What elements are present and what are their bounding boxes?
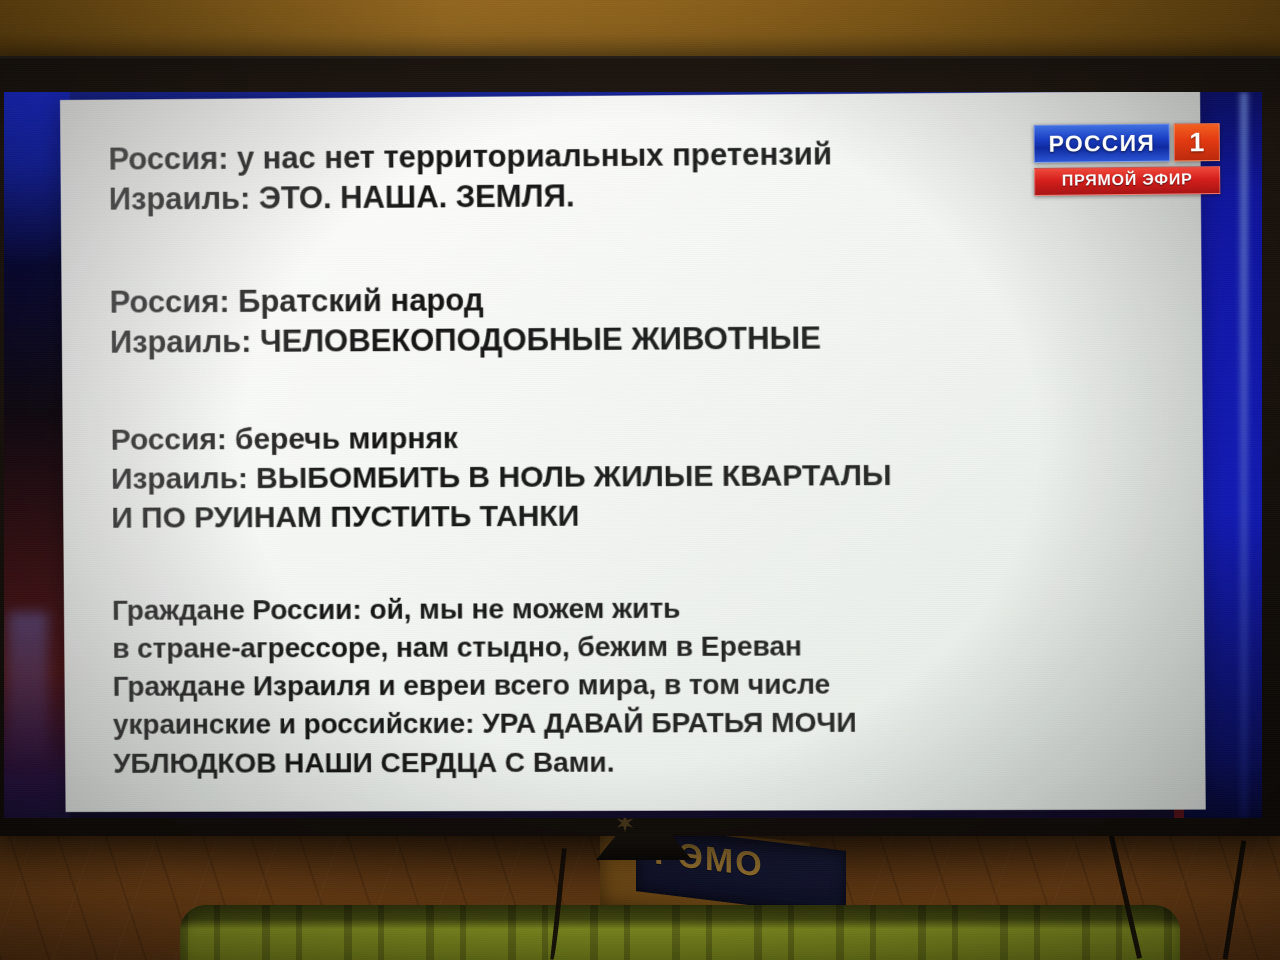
slide-line: Россия: Братский народ bbox=[109, 276, 1148, 323]
slide-line: Израиль: ЧЕЛОВЕКОПОДОБНЫЕ ЖИВОТНЫЕ bbox=[110, 316, 1149, 363]
slide-line: украинские и российские: УРА ДАВАЙ БРАТЬ… bbox=[113, 703, 1153, 744]
live-badge: ПРЯМОЙ ЭФИР bbox=[1034, 166, 1220, 196]
slide-line: Россия: беречь мирняк bbox=[111, 415, 1150, 460]
room-wall bbox=[0, 0, 1280, 64]
channel-number-badge: 1 bbox=[1174, 123, 1220, 161]
channel-logo: РОССИЯ 1 ПРЯМОЙ ЭФИР bbox=[1034, 123, 1221, 196]
slide-line: УБЛЮДКОВ НАШИ СЕРДЦА С Вами. bbox=[113, 742, 1153, 783]
text-block-3: Россия: беречь мирняк Израиль: ВЫБОМБИТЬ… bbox=[111, 415, 1151, 538]
tv-screen: Россия: у нас нет территориальных претен… bbox=[4, 92, 1262, 818]
text-block-4: Граждане России: ой, мы не можем жить в … bbox=[112, 588, 1153, 783]
channel-name-text: РОССИЯ bbox=[1048, 129, 1155, 157]
slide-line: И ПО РУИНАМ ПУСТИТЬ ТАНКИ bbox=[111, 494, 1150, 538]
text-slide-panel: Россия: у нас нет территориальных претен… bbox=[60, 92, 1206, 812]
photo-scene: РЭМО Россия: у нас нет территориальных п… bbox=[0, 0, 1280, 960]
slide-line: Граждане России: ой, мы не можем жить bbox=[112, 588, 1152, 630]
channel-logo-row: РОССИЯ 1 bbox=[1034, 123, 1220, 163]
slide-content: Россия: у нас нет территориальных претен… bbox=[60, 92, 1206, 812]
channel-number-text: 1 bbox=[1189, 127, 1204, 158]
slide-line: Израиль: ВЫБОМБИТЬ В НОЛЬ ЖИЛЫЕ КВАРТАЛЫ bbox=[111, 455, 1150, 499]
slide-line: Израиль: ЭТО. НАША. ЗЕМЛЯ. bbox=[109, 172, 1148, 220]
slide-line: Граждане Израиля и евреи всего мира, в т… bbox=[112, 665, 1152, 707]
text-block-2: Россия: Братский народ Израиль: ЧЕЛОВЕКО… bbox=[109, 276, 1149, 363]
slide-line: в стране-агрессоре, нам стыдно, бежим в … bbox=[112, 626, 1152, 668]
channel-name-badge: РОССИЯ bbox=[1034, 124, 1170, 163]
live-badge-text: ПРЯМОЙ ЭФИР bbox=[1062, 171, 1193, 190]
foam-play-mat bbox=[180, 905, 1180, 960]
text-block-1: Россия: у нас нет территориальных претен… bbox=[108, 132, 1148, 220]
